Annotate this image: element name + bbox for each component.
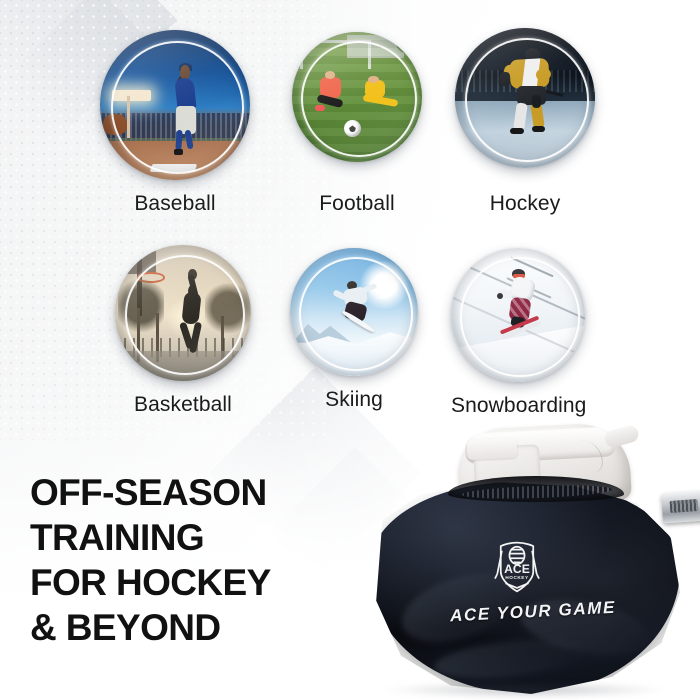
sport-item-basketball[interactable]: Basketball — [115, 245, 251, 381]
sport-item-baseball[interactable]: Baseball — [100, 30, 250, 180]
headline-line-3: FOR HOCKEY — [30, 560, 271, 605]
product-shadow — [380, 682, 670, 698]
svg-text:ACE: ACE — [504, 562, 530, 576]
ace-hockey-logo: ACE HOCKEY — [488, 538, 546, 596]
basketball-icon — [115, 245, 251, 381]
sport-label-baseball: Baseball — [100, 192, 250, 216]
sport-label-football: Football — [292, 192, 422, 216]
sport-item-snowboarding[interactable]: Snowboarding — [451, 248, 585, 382]
sport-item-hockey[interactable]: Hockey — [455, 28, 595, 168]
sport-item-football[interactable]: Football — [292, 32, 422, 162]
sport-item-skiing[interactable]: Skiing — [290, 248, 418, 376]
football-icon — [292, 32, 422, 162]
snowboarding-icon — [451, 248, 585, 382]
headline: OFF-SEASON TRAINING FOR HOCKEY & BEYOND — [30, 470, 271, 650]
product-photo: ACE HOCKEY ACE YOUR GAME — [370, 420, 700, 700]
headline-line-1: OFF-SEASON — [30, 470, 271, 515]
sport-label-basketball: Basketball — [115, 393, 251, 417]
sport-label-skiing: Skiing — [290, 388, 418, 412]
skiing-icon — [290, 248, 418, 376]
svg-text:HOCKEY: HOCKEY — [505, 575, 529, 580]
metal-blade-clip — [661, 491, 700, 524]
headline-line-2: TRAINING — [30, 515, 271, 560]
hockey-icon — [455, 28, 595, 168]
sport-label-snowboarding: Snowboarding — [451, 394, 585, 418]
sport-label-hockey: Hockey — [455, 192, 595, 216]
baseball-icon — [100, 30, 250, 180]
headline-line-4: & BEYOND — [30, 605, 271, 650]
promo-image: Baseball Football — [0, 0, 700, 700]
